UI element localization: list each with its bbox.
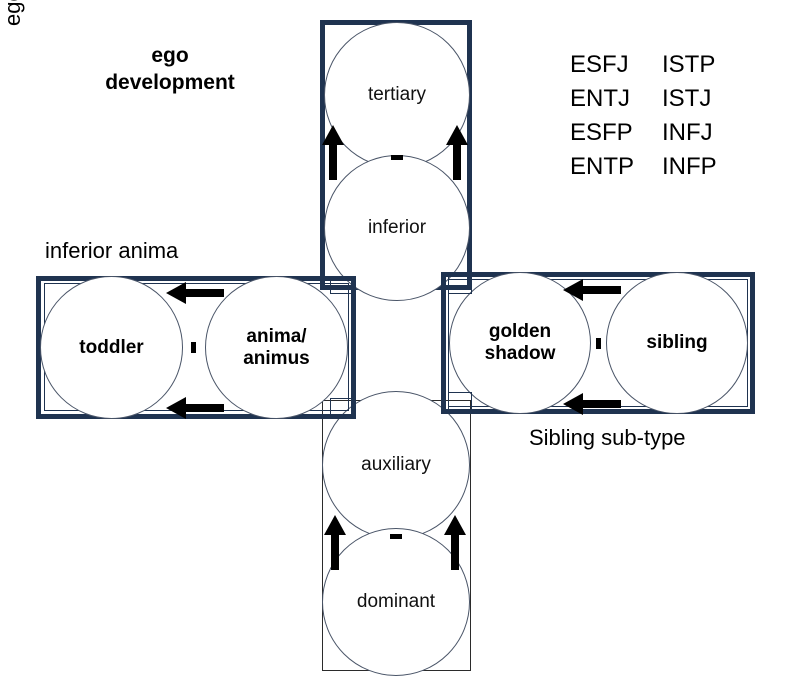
table-row: ESFJ ISTP	[570, 48, 754, 82]
corner-overlap-top-right	[448, 272, 472, 294]
type-cell-right: INFP	[662, 150, 754, 184]
mbti-type-table: ESFJ ISTP ENTJ ISTJ ESFP INFJ ENTP INFP	[570, 48, 754, 184]
corner-overlap-bottom-left	[330, 398, 356, 418]
label-ego: ego	[0, 0, 26, 26]
type-cell-left: ENTP	[570, 150, 662, 184]
circle-toddler-label: toddler	[79, 337, 143, 359]
table-row: ENTP INFP	[570, 150, 754, 184]
table-row: ESFP INFJ	[570, 116, 754, 150]
arrow-up-right-superior	[444, 125, 470, 180]
arrow-up-left-ego	[322, 515, 348, 570]
arrow-left-top-sibling	[563, 278, 621, 302]
connector-tick-tertiary-inferior	[391, 155, 403, 160]
table-row: ENTJ ISTJ	[570, 82, 754, 116]
connector-tick-auxiliary-dominant	[390, 534, 402, 539]
connector-tick-toddler-anima	[191, 342, 196, 353]
circle-sibling: sibling	[606, 272, 748, 414]
corner-overlap-bottom-right	[448, 392, 472, 414]
circle-dominant-label: dominant	[357, 591, 435, 613]
arrow-left-bottom-inferior-anima	[166, 396, 224, 420]
circle-auxiliary-label: auxiliary	[361, 454, 431, 476]
label-sibling-subtype: Sibling sub-type	[529, 425, 686, 451]
arrow-up-right-ego	[442, 515, 468, 570]
page-title: ego development	[60, 42, 280, 97]
circle-tertiary-label: tertiary	[368, 84, 426, 106]
circle-toddler: toddler	[40, 276, 183, 419]
label-inferior-anima: inferior anima	[45, 238, 178, 264]
circle-anima-animus: anima/ animus	[205, 276, 348, 419]
arrow-left-bottom-sibling	[563, 392, 621, 416]
circle-anima-animus-label: anima/ animus	[243, 326, 310, 370]
type-cell-left: ESFP	[570, 116, 662, 150]
connector-tick-golden-shadow-sibling	[596, 338, 601, 349]
arrow-up-left-superior	[320, 125, 346, 180]
arrow-left-top-inferior-anima	[166, 281, 224, 305]
circle-sibling-label: sibling	[646, 332, 707, 354]
corner-overlap-top-left	[330, 276, 356, 294]
type-cell-left: ENTJ	[570, 82, 662, 116]
circle-inferior-label: inferior	[368, 217, 426, 239]
diagram-canvas: ego development ESFJ ISTP ENTJ ISTJ ESFP…	[0, 0, 794, 690]
type-cell-right: ISTP	[662, 48, 754, 82]
circle-golden-shadow-label: golden shadow	[485, 321, 556, 365]
type-cell-right: ISTJ	[662, 82, 754, 116]
type-cell-right: INFJ	[662, 116, 754, 150]
type-cell-left: ESFJ	[570, 48, 662, 82]
